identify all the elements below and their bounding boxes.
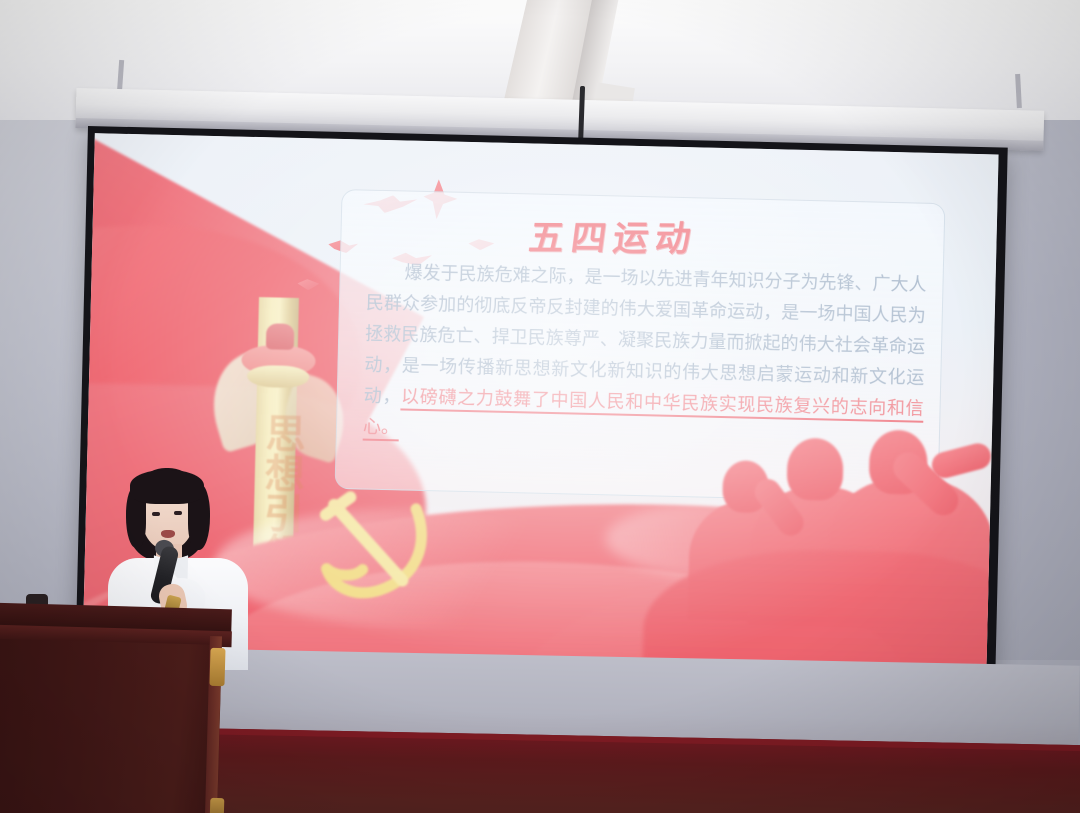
huabiao-ring-lower-icon: [247, 365, 310, 388]
lectern-gold-trim: [209, 648, 225, 686]
lectern-front-panel: [0, 638, 222, 813]
slide-title: 五四运动: [526, 210, 701, 262]
presentation-scene: 思想引领: [0, 0, 1080, 813]
huabiao-beast-icon: [266, 323, 295, 350]
slide-content-card: 五四运动 爆发于民族危难之际，是一场以先进青年知识分子为先锋、广大人民群众参加的…: [335, 189, 946, 503]
youth-silhouette-head-icon: [786, 438, 843, 501]
slide-body-text: 爆发于民族危难之际，是一场以先进青年知识分子为先锋、广大人民群众参加的彻底反帝反…: [363, 257, 927, 456]
lectern-gold-trim: [210, 798, 225, 813]
hammer-and-sickle-icon: [302, 490, 455, 618]
slide-body-highlight: 以磅礴之力鼓舞了中国人民和中华民族实现民族复兴的志向和信心。: [363, 386, 924, 441]
wooden-lectern: [0, 602, 232, 813]
eye-left: [152, 512, 160, 516]
hair-fringe: [130, 470, 204, 504]
eye-right: [174, 511, 182, 515]
mouth: [161, 530, 175, 538]
slide-body-plain: 爆发于民族危难之际，是一场以先进青年知识分子为先锋、广大人民群众参加的彻底反帝反…: [363, 263, 926, 408]
